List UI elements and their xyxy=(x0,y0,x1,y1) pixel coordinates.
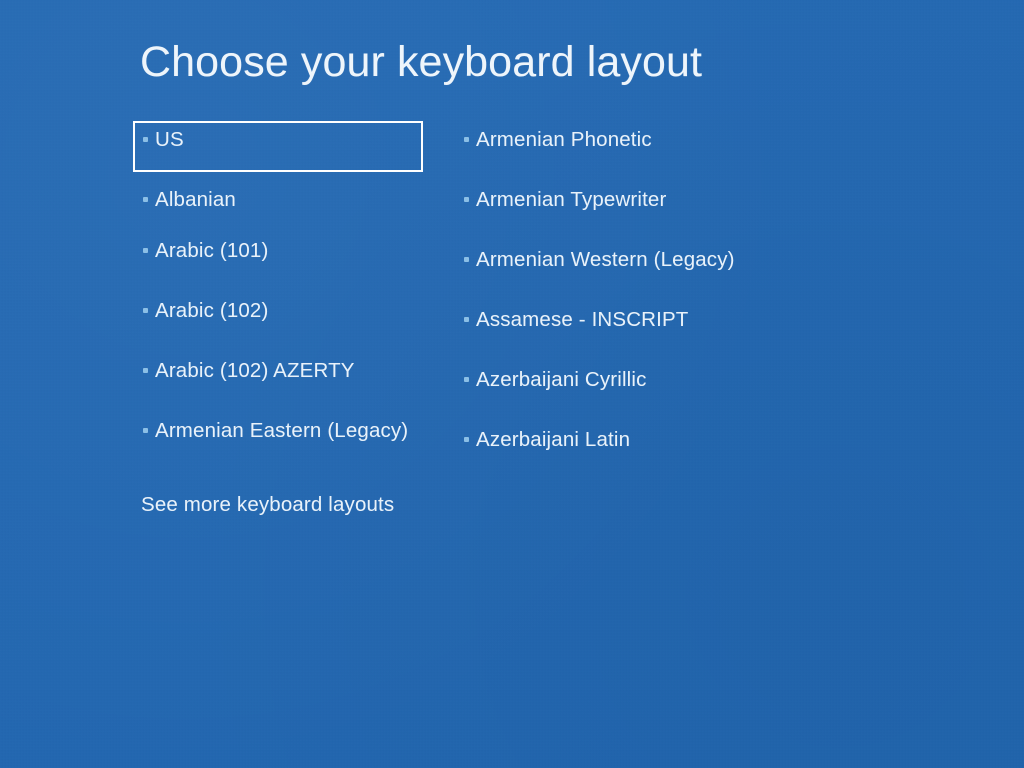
keyboard-layout-option[interactable]: Azerbaijani Latin xyxy=(455,421,785,481)
keyboard-layout-option[interactable]: Armenian Eastern (Legacy) xyxy=(133,412,433,472)
keyboard-layout-column-right: Armenian PhoneticArmenian TypewriterArme… xyxy=(455,121,785,481)
keyboard-layout-option[interactable]: Assamese - INSCRIPT xyxy=(455,301,785,361)
bullet-icon xyxy=(464,317,469,322)
keyboard-layout-option-label: Arabic (101) xyxy=(155,238,268,264)
bullet-icon xyxy=(143,428,148,433)
keyboard-layout-option-label: US xyxy=(155,127,184,153)
keyboard-layout-option[interactable]: Arabic (101) xyxy=(133,232,433,292)
keyboard-layout-option[interactable]: Arabic (102) xyxy=(133,292,433,352)
keyboard-layout-option-label: Arabic (102) xyxy=(155,298,268,324)
bullet-icon xyxy=(143,248,148,253)
keyboard-layout-option[interactable]: Armenian Western (Legacy) xyxy=(455,241,785,301)
keyboard-layout-list: USAlbanianArabic (101)Arabic (102)Arabic… xyxy=(0,0,1024,768)
keyboard-layout-option-label: Armenian Western (Legacy) xyxy=(476,247,735,273)
see-more-keyboard-layouts-link[interactable]: See more keyboard layouts xyxy=(141,491,394,519)
bullet-icon xyxy=(143,137,148,142)
bullet-icon xyxy=(464,437,469,442)
keyboard-layout-option[interactable]: Azerbaijani Cyrillic xyxy=(455,361,785,421)
keyboard-layout-option[interactable]: Arabic (102) AZERTY xyxy=(133,352,433,412)
keyboard-layout-option-label: Armenian Phonetic xyxy=(476,127,652,153)
keyboard-layout-option-label: Armenian Typewriter xyxy=(476,187,666,213)
keyboard-layout-option[interactable]: Albanian xyxy=(133,172,433,232)
choose-keyboard-layout-screen: Choose your keyboard layout USAlbanianAr… xyxy=(0,0,1024,768)
bullet-icon xyxy=(464,197,469,202)
keyboard-layout-option-label: Arabic (102) AZERTY xyxy=(155,358,355,384)
keyboard-layout-option-label: Armenian Eastern (Legacy) xyxy=(155,418,408,444)
bullet-icon xyxy=(143,197,148,202)
bullet-icon xyxy=(143,368,148,373)
bullet-icon xyxy=(464,377,469,382)
keyboard-layout-option[interactable]: Armenian Phonetic xyxy=(455,121,785,181)
bullet-icon xyxy=(464,257,469,262)
bullet-icon xyxy=(464,137,469,142)
keyboard-layout-option-label: Azerbaijani Cyrillic xyxy=(476,367,646,393)
keyboard-layout-column-left: USAlbanianArabic (101)Arabic (102)Arabic… xyxy=(133,121,433,472)
keyboard-layout-option-label: Azerbaijani Latin xyxy=(476,427,630,453)
keyboard-layout-option-label: Albanian xyxy=(155,187,236,213)
bullet-icon xyxy=(143,308,148,313)
keyboard-layout-option[interactable]: Armenian Typewriter xyxy=(455,181,785,241)
keyboard-layout-option-label: Assamese - INSCRIPT xyxy=(476,307,688,333)
keyboard-layout-option[interactable]: US xyxy=(133,121,423,172)
